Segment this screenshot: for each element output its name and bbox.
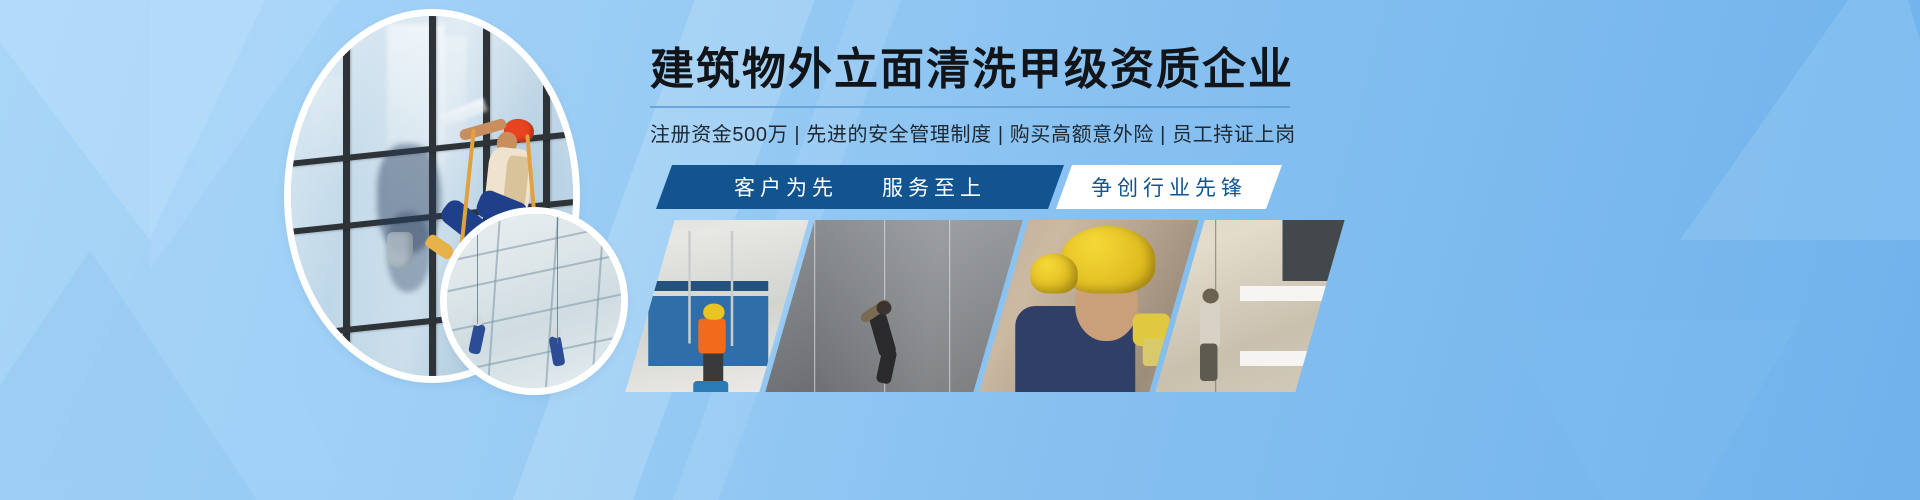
page-title: 建筑物外立面清洗甲级资质企业	[650, 46, 1900, 94]
mullion-vertical-1	[343, 16, 350, 376]
bg-triangle-6	[1500, 320, 1800, 500]
balcony-rail-1	[1240, 286, 1345, 301]
strip1-rope-2	[731, 231, 734, 346]
strip3-helmet-brim	[1030, 254, 1078, 294]
strip1-rope-1	[688, 231, 691, 344]
window-lintel	[648, 281, 768, 291]
bg-triangle-4	[0, 250, 270, 500]
facade-rope-1	[477, 214, 478, 324]
hanging-bucket	[387, 232, 413, 268]
strip-photo-2	[765, 220, 1022, 392]
strip-photo-2-content	[765, 220, 1022, 392]
promo-banner: 建筑物外立面清洗甲级资质企业 注册资金500万 | 先进的安全管理制度 | 购买…	[0, 0, 1920, 500]
slogan-text-3: 争创行业先锋	[1091, 172, 1247, 202]
strip1-bucket	[693, 381, 728, 392]
banner-content: 建筑物外立面清洗甲级资质企业 注册资金500万 | 先进的安全管理制度 | 购买…	[650, 46, 1900, 209]
strip1-worker-vest	[698, 319, 726, 354]
slogan-text-1: 客户为先	[734, 172, 838, 202]
strip1-worker-helmet-icon	[703, 304, 724, 320]
banner-subtitle: 注册资金500万 | 先进的安全管理制度 | 购买高额意外险 | 员工持证上岗	[650, 118, 1900, 147]
building-facade-scene	[447, 214, 621, 388]
title-divider	[650, 106, 1290, 108]
strip4-worker-body	[1200, 301, 1220, 349]
photo-circle-small	[447, 214, 621, 388]
balcony-rail-2	[1240, 351, 1345, 366]
slogan-ribbon-white-segment: 争创行业先锋	[1056, 165, 1282, 209]
facade-rope-2	[557, 214, 558, 344]
slogan-text-2: 服务至上	[882, 172, 986, 202]
slogan-ribbon-blue-segment: 客户为先 服务至上	[656, 165, 1064, 209]
strip2-worker-head	[877, 301, 892, 315]
strip4-worker-head	[1203, 289, 1219, 304]
photo-strip	[650, 220, 1290, 392]
balcony-window	[1283, 220, 1345, 281]
facade-line-h1	[447, 217, 621, 270]
facade-worker-1-body	[468, 323, 486, 355]
bg-triangle-1	[0, 0, 270, 240]
strip2-rope-1	[814, 220, 815, 392]
strip2-rope-3	[949, 220, 950, 392]
strip4-worker-legs	[1200, 344, 1218, 382]
slogan-ribbon: 客户为先 服务至上 争创行业先锋	[650, 165, 1274, 209]
